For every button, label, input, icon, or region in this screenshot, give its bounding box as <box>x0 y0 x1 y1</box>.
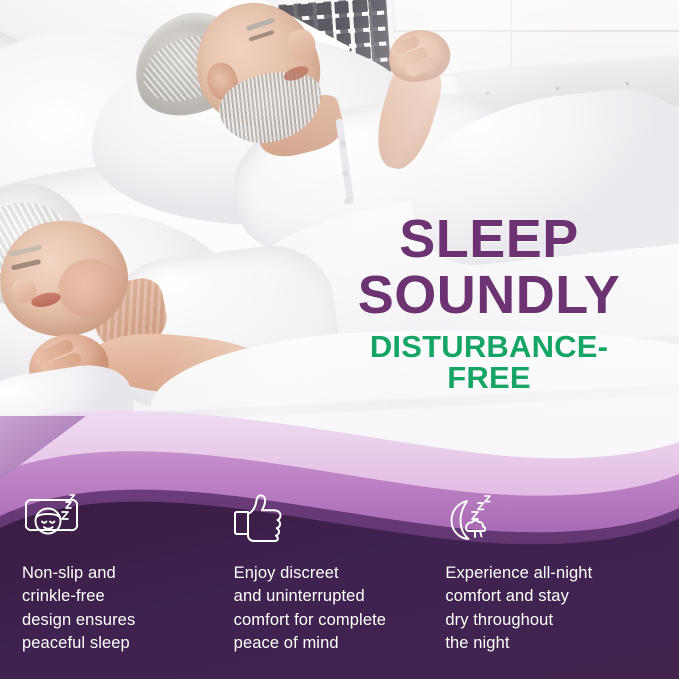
feature-item: Enjoy discreet and uninterrupted comfort… <box>234 492 446 679</box>
feature-text: Experience all-night comfort and stay dr… <box>445 562 641 656</box>
thumbs-up-icon <box>234 492 430 548</box>
feature-list: Non-slip and crinkle-free design ensures… <box>0 492 679 679</box>
headline-block: SLEEP SOUNDLY DISTURBANCE-FREE <box>329 212 649 393</box>
feature-text: Enjoy discreet and uninterrupted comfort… <box>234 562 430 656</box>
product-banner: SLEEP SOUNDLY DISTURBANCE-FREE <box>0 0 679 679</box>
crescent-moon-zzz-icon <box>445 492 641 548</box>
feature-text: Non-slip and crinkle-free design ensures… <box>22 562 218 656</box>
feature-item: Experience all-night comfort and stay dr… <box>445 492 657 679</box>
headline-line-2: SOUNDLY <box>329 268 649 322</box>
feature-item: Non-slip and crinkle-free design ensures… <box>22 492 234 679</box>
pillow-sleeping-face-icon <box>22 492 218 548</box>
headline-line-1: SLEEP <box>329 212 649 266</box>
